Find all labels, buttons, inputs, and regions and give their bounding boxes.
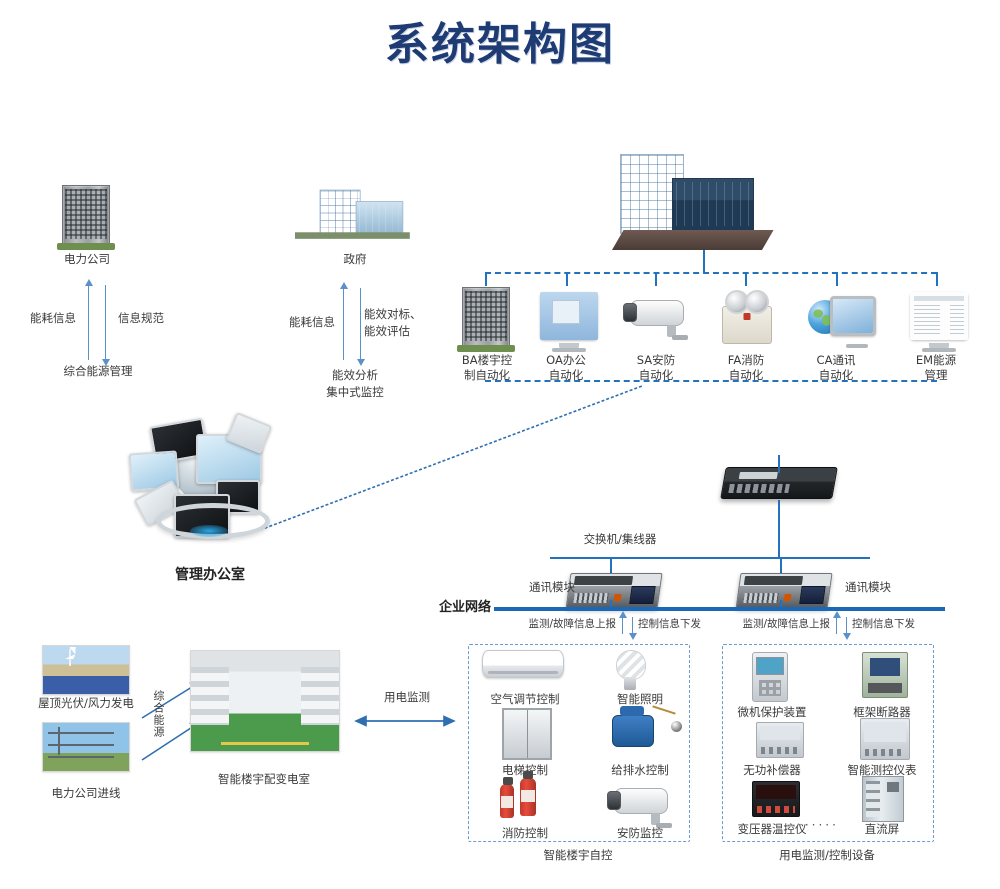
circuit-breaker-icon <box>862 652 908 698</box>
combined-energy-label: 综合能源 <box>152 690 166 738</box>
grid-feed-label: 电力公司进线 <box>24 786 148 801</box>
energy-dashboard-icon <box>910 292 968 340</box>
dc-panel-icon <box>862 776 904 822</box>
flow-down-arrow-0 <box>632 617 633 634</box>
smart-building-icon <box>612 150 762 250</box>
ba-item-label-3: 给排水控制 <box>585 763 695 778</box>
building-automation-caption: 智能楼宇自控 <box>478 848 678 863</box>
reactive-compensator-icon <box>756 722 804 758</box>
subsystem-drop-5 <box>836 272 838 286</box>
power-company-up-label: 能耗信息 <box>22 311 84 326</box>
ba-item-label-1: 智能照明 <box>585 692 695 707</box>
enterprise-network-bus <box>494 607 945 611</box>
power-monitoring-ellipsis: ······ <box>798 818 839 832</box>
fire-extinguisher-icon <box>500 778 550 820</box>
subsystem-label-0-line1: BA楼宇控 <box>448 353 526 368</box>
power-company-target-label: 综合能源管理 <box>22 364 174 379</box>
power-company-down-label: 信息规范 <box>110 311 172 326</box>
government-down-arrow <box>360 288 361 360</box>
government-building-icon <box>295 188 392 239</box>
water-valve-icon <box>612 715 654 747</box>
subsystem-drop-6 <box>936 272 938 286</box>
switch-uplink-line <box>778 455 780 473</box>
ba-item-label-5: 安防监控 <box>585 826 695 841</box>
communication-module-icon <box>738 573 830 609</box>
subsystem-bus-line <box>485 272 937 274</box>
government-up-arrow <box>343 288 344 360</box>
government-down-label-2: 能效评估 <box>364 324 434 339</box>
solar-wind-label: 屋顶光伏/风力发电 <box>24 696 148 711</box>
building-icon <box>62 185 110 245</box>
smart-meter-icon <box>860 718 910 760</box>
enterprise-network-label: 企业网络 <box>425 600 491 615</box>
switch-label: 交换机/集线器 <box>530 532 710 547</box>
pm-item-label-0: 微机保护装置 <box>724 705 820 720</box>
subsystem-label-4-line1: CA通讯 <box>800 353 872 368</box>
subsystem-drop-2 <box>566 272 568 286</box>
subsystem-label-3-line1: FA消防 <box>710 353 782 368</box>
building-drop-line <box>703 250 705 272</box>
desktop-monitor-icon <box>540 292 598 340</box>
government-up-label: 能耗信息 <box>282 315 342 330</box>
power-usage-monitoring-label: 用电监测 <box>352 690 462 705</box>
power-company-label: 电力公司 <box>32 252 142 267</box>
page-title: 系统架构图 <box>0 8 1000 72</box>
subsystem-label-2-line1: SA安防 <box>620 353 692 368</box>
substation-room-photo <box>190 650 340 752</box>
subsystem-drop-3 <box>655 272 657 286</box>
subsystem-label-1-line1: OA办公 <box>530 353 602 368</box>
cfl-lamp-icon <box>613 650 647 690</box>
flow-up-arrow-1 <box>836 617 837 634</box>
office-label: 管理办公室 <box>130 568 290 583</box>
communication-module-icon <box>568 573 660 609</box>
transmission-tower-photo <box>42 722 130 772</box>
comm-module-left-label: 通讯模块 <box>515 580 575 595</box>
flow-up-label-0: 监测/故障信息上报 <box>486 617 616 631</box>
flow-down-label-1: 控制信息下发 <box>852 617 942 631</box>
power-company-up-arrow <box>88 285 89 360</box>
flow-up-label-1: 监测/故障信息上报 <box>700 617 830 631</box>
government-label: 政府 <box>300 252 410 267</box>
comm-bus-line <box>550 557 870 559</box>
security-camera-icon <box>614 788 668 814</box>
elevator-icon <box>502 708 552 760</box>
solar-wind-photo <box>42 645 130 695</box>
substation-label: 智能楼宇配变电室 <box>188 772 340 787</box>
cctv-camera-icon <box>630 300 684 326</box>
pm-item-label-5: 直流屏 <box>834 822 930 837</box>
office-tower-icon <box>462 287 510 347</box>
subsystem-label-5-line1: EM能源 <box>900 353 972 368</box>
office-link-line <box>250 380 650 540</box>
power-company-down-arrow <box>105 285 106 360</box>
ba-item-label-0: 空气调节控制 <box>470 692 580 707</box>
power-monitoring-caption: 用电监测/控制设备 <box>727 848 927 863</box>
comm-module-right-label: 通讯模块 <box>845 580 915 595</box>
flow-down-arrow-1 <box>846 617 847 634</box>
ba-item-label-4: 消防控制 <box>470 826 580 841</box>
flow-up-arrow-0 <box>622 617 623 634</box>
subsystem-drop-1 <box>485 272 487 286</box>
globe-network-icon <box>808 296 870 342</box>
subsystem-drop-4 <box>745 272 747 286</box>
workstation-cluster-icon <box>130 418 290 543</box>
pm-item-label-2: 无功补偿器 <box>724 763 820 778</box>
transformer-temp-controller-icon <box>752 781 800 817</box>
power-monitoring-arrow <box>350 710 462 732</box>
air-conditioner-icon <box>482 650 564 678</box>
government-down-label-1: 能效对标、 <box>364 307 434 322</box>
emergency-light-icon <box>722 306 772 344</box>
switch-downlink-line <box>778 500 780 557</box>
protection-relay-icon <box>752 652 788 702</box>
